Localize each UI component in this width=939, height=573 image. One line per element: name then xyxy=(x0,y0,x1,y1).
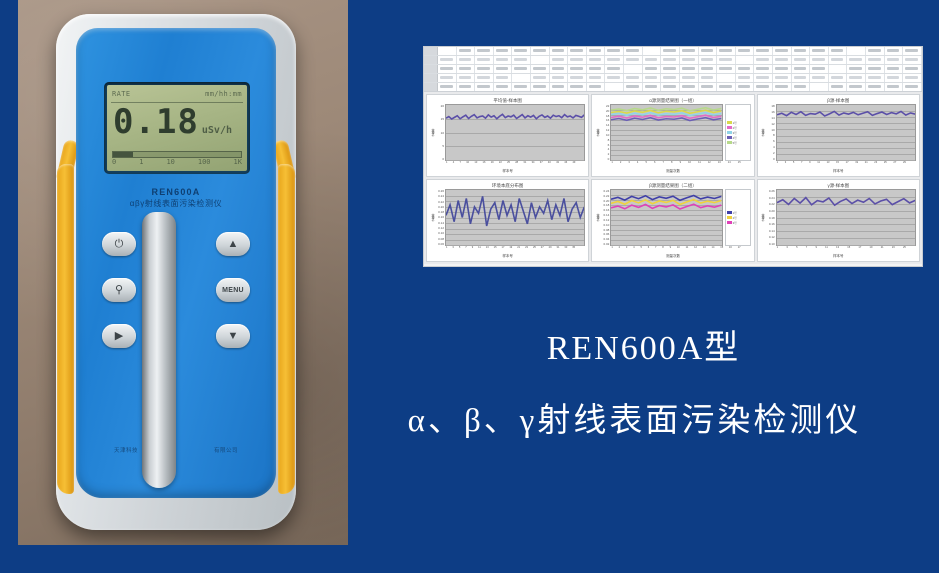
spreadsheet-cell xyxy=(810,56,829,64)
chart-gridline xyxy=(446,245,584,246)
device-model-label: REN600A xyxy=(76,186,276,198)
chart-x-tick: 9 xyxy=(809,161,810,168)
lcd-status-right: mm/hh:mm xyxy=(205,90,242,98)
chart-legend-label: 3号 xyxy=(733,221,737,225)
chart-x-tick: 3 xyxy=(452,246,453,253)
spreadsheet-cell xyxy=(736,56,755,64)
lcd-bargraph xyxy=(112,151,242,158)
spreadsheet-cell xyxy=(438,56,457,64)
spreadsheet-cell xyxy=(847,56,866,64)
chart-gridline xyxy=(446,160,584,161)
chart-title: α源测量结果图（一组） xyxy=(595,97,750,104)
spreadsheet-cell xyxy=(773,47,792,55)
spreadsheet-cell xyxy=(736,65,755,73)
chart-y-ticks: 0.240.220.200.180.160.140.120.100.080.06… xyxy=(600,189,610,246)
spreadsheet-cell xyxy=(792,74,811,82)
spreadsheet-cell xyxy=(847,83,866,91)
spreadsheet-cell xyxy=(605,56,624,64)
chart-x-tick: 5 xyxy=(796,246,797,253)
chart-series-line xyxy=(611,196,721,201)
spreadsheet-cell xyxy=(587,65,606,73)
spreadsheet-cell xyxy=(866,56,885,64)
spreadsheet-cell xyxy=(568,74,587,82)
chart-x-tick: 33 xyxy=(564,246,567,253)
spreadsheet-cell xyxy=(810,47,829,55)
chart-x-tick: 17 xyxy=(858,246,861,253)
spreadsheet-row xyxy=(424,47,922,56)
chart-x-tick: 1 xyxy=(446,161,447,168)
chart-x-ticks: 1471013161922252831343740434649 xyxy=(430,161,585,168)
chart-body: 计数率181614121086420 xyxy=(761,104,916,161)
lcd-status-left: RATE xyxy=(112,90,130,98)
chart-x-tick: 17 xyxy=(502,246,505,253)
chart-x-tick: 9 xyxy=(815,246,816,253)
spreadsheet-cell xyxy=(438,47,457,55)
chart-gridline xyxy=(777,160,915,161)
spreadsheet-cell xyxy=(754,56,773,64)
spreadsheet-cell xyxy=(717,74,736,82)
chart-x-axis-label: 样本号 xyxy=(430,253,585,259)
spreadsheet-cell xyxy=(792,65,811,73)
spreadsheet-cell xyxy=(587,74,606,82)
chart-x-ticks: 1234567891011121314151617 xyxy=(595,246,750,253)
chart-x-tick: 29 xyxy=(549,246,552,253)
product-model-title: REN600A型 xyxy=(330,320,939,369)
chart-x-tick: 13 xyxy=(718,161,721,168)
radiation-detector-device: RATE mm/hh:mm 0.18 uSv/h 01101001K REN60… xyxy=(56,14,296,534)
chart-gridline xyxy=(777,245,915,246)
lcd-screen: RATE mm/hh:mm 0.18 uSv/h 01101001K xyxy=(107,85,247,171)
spreadsheet-cell xyxy=(550,65,569,73)
spreadsheet-row-header xyxy=(424,47,438,55)
chart-legend-item: 3号 xyxy=(727,131,749,135)
spreadsheet-cell xyxy=(717,83,736,91)
spreadsheet-cell xyxy=(624,74,643,82)
chart-x-tick: 15 xyxy=(494,246,497,253)
spreadsheet-row-header xyxy=(424,83,438,91)
chart-x-tick: 23 xyxy=(892,246,895,253)
chart-legend-swatch xyxy=(727,136,732,139)
spreadsheet-cell xyxy=(475,83,494,91)
spreadsheet-cell xyxy=(847,47,866,55)
key-button[interactable]: ⚲ xyxy=(102,278,136,302)
chart-legend-label: 1号 xyxy=(733,121,737,125)
spreadsheet-cell xyxy=(512,83,531,91)
chart-x-tick: 46 xyxy=(564,161,567,168)
spreadsheet-cell xyxy=(903,65,922,73)
product-name-title: α、β、γ射线表面污染检测仪 xyxy=(330,393,939,441)
play-button[interactable]: ▶ xyxy=(102,324,136,348)
spreadsheet-cell xyxy=(457,83,476,91)
chart-legend-label: 5号 xyxy=(733,141,737,145)
chart-x-tick: 15 xyxy=(847,246,850,253)
chart-x-tick: 3 xyxy=(626,246,627,253)
chart-x-tick: 40 xyxy=(548,161,551,168)
chart-x-tick: 25 xyxy=(884,161,887,168)
chart-body: 计数率22201816141210864201号2号3号4号5号 xyxy=(595,104,750,161)
spreadsheet-cell xyxy=(643,47,662,55)
power-icon: ⏻ xyxy=(115,239,124,250)
spreadsheet-cell xyxy=(717,47,736,55)
spreadsheet-cell xyxy=(494,47,513,55)
chart-x-tick: 8 xyxy=(671,161,672,168)
spreadsheet-cell xyxy=(624,47,643,55)
spreadsheet-cell xyxy=(661,47,680,55)
chart-legend-label: 1号 xyxy=(733,211,737,215)
spreadsheet-cell xyxy=(494,83,513,91)
chart-x-tick: 7 xyxy=(806,246,807,253)
spreadsheet-cell xyxy=(568,56,587,64)
chart-x-tick: 28 xyxy=(515,161,518,168)
chevron-up-icon: ▲ xyxy=(228,239,239,250)
spreadsheet-cell xyxy=(754,65,773,73)
chart-plot-area xyxy=(776,189,916,246)
spreadsheet-cell xyxy=(531,74,550,82)
chart-x-tick: 3 xyxy=(786,246,787,253)
chart-x-tick: 15 xyxy=(836,161,839,168)
chart-body: 计数率0.260.240.220.200.180.160.140.120.10 xyxy=(761,189,916,246)
device-keypad: ⏻ ⚲ ▶ ▲ MENU ▼ xyxy=(76,232,276,382)
spreadsheet-cell xyxy=(568,65,587,73)
chart-legend-item: 4号 xyxy=(727,136,749,140)
chart-x-tick: 31 xyxy=(523,161,526,168)
chart-x-tick: 7 xyxy=(801,161,802,168)
chart-title: β源-样本图 xyxy=(761,97,916,104)
chart-gridline xyxy=(611,245,721,246)
chart-x-axis-label: 样本号 xyxy=(761,253,916,259)
spreadsheet-cell xyxy=(475,74,494,82)
chart-body: 计数率0.240.220.200.180.160.140.120.100.080… xyxy=(595,189,750,246)
chart-x-tick: 27 xyxy=(541,246,544,253)
spreadsheet-cell xyxy=(699,65,718,73)
chart-x-tick: 16 xyxy=(483,161,486,168)
chart-x-tick: 1 xyxy=(777,161,778,168)
spreadsheet-cell xyxy=(475,47,494,55)
spreadsheet-cell xyxy=(699,74,718,82)
chart-x-tick: 17 xyxy=(738,246,741,253)
chart-y-ticks: 20151050 xyxy=(435,104,445,161)
chart-plot-area xyxy=(445,104,585,161)
footer-right-text: 有限公司 xyxy=(214,446,238,454)
power-button[interactable]: ⏻ xyxy=(102,232,136,256)
chart-plot-area xyxy=(445,189,585,246)
charts-grid: 平均值-样本图计数率201510501471013161922252831343… xyxy=(424,92,922,264)
chart-legend-label: 4号 xyxy=(733,136,737,140)
chart-x-tick: 11 xyxy=(478,246,481,253)
spreadsheet-row xyxy=(424,56,922,65)
spreadsheet-cell xyxy=(494,65,513,73)
chart-x-tick: 15 xyxy=(720,246,723,253)
title-block: REN600A型 α、β、γ射线表面污染检测仪 xyxy=(330,320,939,441)
spreadsheet-cell xyxy=(587,83,606,91)
chart-x-tick: 10 xyxy=(677,246,680,253)
chart-x-tick: 13 xyxy=(827,161,830,168)
spreadsheet-cell xyxy=(550,56,569,64)
lcd-scale-tick: 100 xyxy=(198,158,211,169)
chart-x-tick: 21 xyxy=(865,161,868,168)
chart-x-tick: 1 xyxy=(777,246,778,253)
spreadsheet-cell xyxy=(661,56,680,64)
chart-x-tick: 5 xyxy=(793,161,794,168)
spreadsheet-cell xyxy=(568,83,587,91)
spreadsheet-cell xyxy=(773,56,792,64)
spreadsheet-row xyxy=(424,65,922,74)
spreadsheet-cell xyxy=(680,65,699,73)
spreadsheet-cell xyxy=(661,83,680,91)
menu-button[interactable]: MENU xyxy=(216,278,250,302)
spreadsheet-cell xyxy=(903,56,922,64)
spreadsheet-cell xyxy=(717,56,736,64)
spreadsheet-cell xyxy=(885,47,904,55)
spreadsheet-cell xyxy=(773,83,792,91)
chart-x-tick: 15 xyxy=(738,161,741,168)
chart-x-tick: 5 xyxy=(640,246,641,253)
chart-x-ticks: 1357911131517192123252729313335 xyxy=(430,246,585,253)
spreadsheet-cell xyxy=(699,83,718,91)
device-silkscreen: REN600A αβγ射线表面污染检测仪 xyxy=(76,186,276,210)
spreadsheet-cell xyxy=(512,56,531,64)
chart-x-tick: 5 xyxy=(645,161,646,168)
spreadsheet-cell xyxy=(605,83,624,91)
chart-gridline xyxy=(611,160,721,161)
chart-y-ticks: 181614121086420 xyxy=(766,104,776,161)
chart-legend-swatch xyxy=(727,131,732,134)
chart-x-tick: 4 xyxy=(637,161,638,168)
chart-plot-area xyxy=(610,189,722,246)
chart-x-tick: 12 xyxy=(694,246,697,253)
chart-x-tick: 7 xyxy=(459,161,460,168)
spreadsheet-cell xyxy=(792,56,811,64)
lcd-scale-tick: 1 xyxy=(139,158,143,169)
spreadsheet-cell xyxy=(680,83,699,91)
slide-root: RATE mm/hh:mm 0.18 uSv/h 01101001K REN60… xyxy=(0,0,939,573)
spreadsheet-cell xyxy=(531,47,550,55)
key-icon: ⚲ xyxy=(115,285,123,296)
chart-legend-item: 5号 xyxy=(727,141,749,145)
chart-x-tick: 23 xyxy=(525,246,528,253)
spreadsheet-cell xyxy=(661,65,680,73)
chart-x-tick: 17 xyxy=(846,161,849,168)
spreadsheet-cell xyxy=(792,83,811,91)
chart-y-ticks: 0.260.240.220.200.180.160.140.120.10 xyxy=(766,189,776,246)
spreadsheet-cell xyxy=(512,47,531,55)
spreadsheet-cell xyxy=(587,56,606,64)
chart-legend-swatch xyxy=(727,221,732,224)
spreadsheet-row-header xyxy=(424,74,438,82)
spreadsheet-cell xyxy=(680,56,699,64)
chart-x-tick: 21 xyxy=(517,246,520,253)
spreadsheet-cell xyxy=(754,83,773,91)
lcd-scale-tick: 10 xyxy=(166,158,174,169)
spreadsheet-cell xyxy=(624,83,643,91)
spreadsheet-row xyxy=(424,83,922,92)
chart-x-tick: 10 xyxy=(466,161,469,168)
spreadsheet-cell xyxy=(736,83,755,91)
chart-x-tick: 37 xyxy=(540,161,543,168)
spreadsheet-cell xyxy=(643,74,662,82)
chart-series-line xyxy=(611,200,721,205)
chart-x-axis-label: 样本号 xyxy=(430,168,585,174)
chevron-down-icon: ▼ xyxy=(228,331,239,342)
chart-x-tick: 13 xyxy=(703,246,706,253)
spreadsheet-cell xyxy=(475,56,494,64)
spreadsheet-cell xyxy=(885,65,904,73)
chart-x-tick: 27 xyxy=(893,161,896,168)
software-screenshot: 平均值-样本图计数率201510501471013161922252831343… xyxy=(423,46,923,267)
chart-plot-area xyxy=(776,104,916,161)
chart-x-tick: 22 xyxy=(499,161,502,168)
spreadsheet-cell xyxy=(699,56,718,64)
chart-x-tick: 19 xyxy=(870,246,873,253)
spreadsheet-cell xyxy=(643,65,662,73)
chart-x-tick: 43 xyxy=(556,161,559,168)
spreadsheet-cell xyxy=(717,65,736,73)
spreadsheet-cell xyxy=(736,74,755,82)
spreadsheet-cell xyxy=(643,56,662,64)
chart-x-tick: 34 xyxy=(532,161,535,168)
chart-x-ticks: 123456789101112131415 xyxy=(595,161,750,168)
spreadsheet-cell xyxy=(494,56,513,64)
spreadsheet-cell xyxy=(680,47,699,55)
chart-legend-item: 3号 xyxy=(727,221,749,225)
spreadsheet-cell xyxy=(903,47,922,55)
chart-body: 计数率0.260.240.220.200.180.160.140.120.100… xyxy=(430,189,585,246)
chart-x-tick: 7 xyxy=(465,246,466,253)
chart-series-line xyxy=(611,204,721,209)
chart-x-tick: 13 xyxy=(836,246,839,253)
product-photo: RATE mm/hh:mm 0.18 uSv/h 01101001K REN60… xyxy=(18,0,348,545)
chart-panel: α源测量结果图（一组）计数率22201816141210864201号2号3号4… xyxy=(591,94,754,177)
chart-x-tick: 9 xyxy=(680,161,681,168)
down-button[interactable]: ▼ xyxy=(216,324,250,348)
chart-title: β源测量结果图（二组） xyxy=(595,182,750,189)
lcd-unit: uSv/h xyxy=(202,125,232,136)
chart-legend-swatch xyxy=(727,211,732,214)
spreadsheet-cell xyxy=(847,65,866,73)
spreadsheet-cell xyxy=(605,65,624,73)
chart-legend-label: 3号 xyxy=(733,131,737,135)
spreadsheet-cell xyxy=(829,56,848,64)
spreadsheet-cell xyxy=(457,65,476,73)
up-button[interactable]: ▲ xyxy=(216,232,250,256)
spreadsheet-cell xyxy=(531,56,550,64)
spreadsheet-cell xyxy=(605,47,624,55)
device-footer-text: 天津科技 有限公司 xyxy=(76,446,276,454)
device-handle-strip xyxy=(142,212,176,488)
spreadsheet-cell xyxy=(792,47,811,55)
spreadsheet-row-header xyxy=(424,56,438,64)
chart-x-tick: 13 xyxy=(474,161,477,168)
chart-x-tick: 9 xyxy=(472,246,473,253)
chart-panel: β源-样本图计数率1816141210864201357911131517192… xyxy=(757,94,920,177)
lcd-scale-tick: 1K xyxy=(234,158,242,169)
spreadsheet-cell xyxy=(457,47,476,55)
chart-x-tick: 4 xyxy=(633,246,634,253)
spreadsheet-cell xyxy=(847,74,866,82)
chart-x-tick: 3 xyxy=(785,161,786,168)
spreadsheet-cell xyxy=(810,83,829,91)
spreadsheet-cell xyxy=(587,47,606,55)
chart-legend-label: 2号 xyxy=(733,126,737,130)
chart-title: 平均值-样本图 xyxy=(430,97,585,104)
spreadsheet-cell xyxy=(829,47,848,55)
chart-x-tick: 11 xyxy=(825,246,828,253)
spreadsheet-cell xyxy=(531,83,550,91)
chart-x-tick: 1 xyxy=(611,246,612,253)
device-description-label: αβγ射线表面污染检测仪 xyxy=(76,198,276,210)
chart-legend-swatch xyxy=(727,126,732,129)
chart-panel: 环境本底分布图计数率0.260.240.220.200.180.160.140.… xyxy=(426,179,589,262)
chart-x-tick: 14 xyxy=(728,161,731,168)
chart-x-tick: 25 xyxy=(507,161,510,168)
chart-panel: 平均值-样本图计数率201510501471013161922252831343… xyxy=(426,94,589,177)
spreadsheet-cell xyxy=(885,74,904,82)
spreadsheet-cell xyxy=(512,74,531,82)
chart-x-tick: 11 xyxy=(698,161,701,168)
spreadsheet-cell xyxy=(903,83,922,91)
chart-x-tick: 8 xyxy=(662,246,663,253)
spreadsheet-cell xyxy=(550,83,569,91)
spreadsheet-cell xyxy=(643,83,662,91)
chart-x-tick: 21 xyxy=(881,246,884,253)
spreadsheet-cell xyxy=(568,47,587,55)
spreadsheet-cell xyxy=(457,74,476,82)
chart-legend: 1号2号3号 xyxy=(725,189,751,246)
chart-legend-item: 1号 xyxy=(727,121,749,125)
spreadsheet-cell xyxy=(680,74,699,82)
chart-x-tick: 11 xyxy=(686,246,689,253)
spreadsheet-cell xyxy=(699,47,718,55)
spreadsheet-cell xyxy=(810,65,829,73)
spreadsheet-cell xyxy=(866,47,885,55)
footer-left-text: 天津科技 xyxy=(114,446,138,454)
spreadsheet-area xyxy=(424,47,922,92)
lcd-value: 0.18 xyxy=(113,105,199,139)
spreadsheet-cell xyxy=(624,56,643,64)
spreadsheet-cell xyxy=(885,83,904,91)
spreadsheet-cell xyxy=(531,65,550,73)
chart-x-tick: 3 xyxy=(628,161,629,168)
chart-x-tick: 4 xyxy=(453,161,454,168)
chart-series-line xyxy=(777,111,915,116)
chart-x-tick: 25 xyxy=(533,246,536,253)
lcd-scale: 01101001K xyxy=(112,158,242,169)
chart-panel: β源测量结果图（二组）计数率0.240.220.200.180.160.140.… xyxy=(591,179,754,262)
chart-legend-swatch xyxy=(727,121,732,124)
chart-legend: 1号2号3号4号5号 xyxy=(725,104,751,161)
chart-x-tick: 19 xyxy=(491,161,494,168)
chart-title: 环境本底分布图 xyxy=(430,182,585,189)
spreadsheet-cell xyxy=(512,65,531,73)
chart-x-tick: 2 xyxy=(619,246,620,253)
chart-x-tick: 1 xyxy=(611,161,612,168)
chart-panel: γ源-样本图计数率0.260.240.220.200.180.160.140.1… xyxy=(757,179,920,262)
spreadsheet-cell xyxy=(605,74,624,82)
spreadsheet-cell xyxy=(866,74,885,82)
chart-legend-item: 1号 xyxy=(727,211,749,215)
chart-x-tick: 7 xyxy=(655,246,656,253)
spreadsheet-cell xyxy=(550,47,569,55)
chart-legend-item: 2号 xyxy=(727,126,749,130)
chart-x-axis-label: 样本号 xyxy=(761,168,916,174)
play-icon: ▶ xyxy=(115,331,123,342)
spreadsheet-cell xyxy=(550,74,569,82)
lcd-status-row: RATE mm/hh:mm xyxy=(112,87,242,101)
chart-x-tick: 12 xyxy=(708,161,711,168)
chart-x-tick: 31 xyxy=(557,246,560,253)
chart-x-tick: 19 xyxy=(509,246,512,253)
lcd-scale-tick: 0 xyxy=(112,158,116,169)
